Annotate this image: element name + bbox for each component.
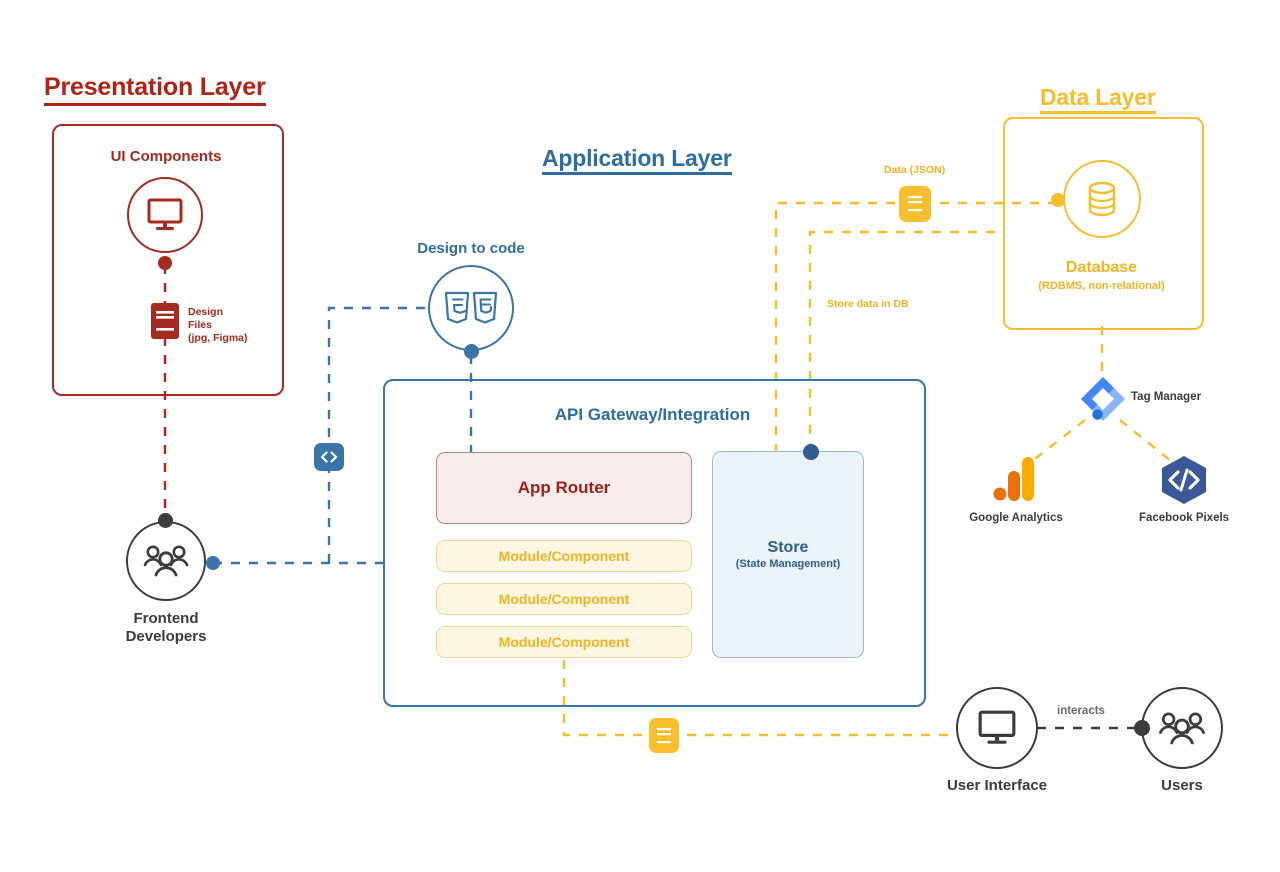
- users-node[interactable]: [1141, 687, 1223, 769]
- store-box[interactable]: Store (State Management): [712, 451, 864, 658]
- json-badge-bottom[interactable]: [649, 718, 679, 753]
- app-router-label: App Router: [518, 478, 611, 498]
- api-gateway-caption: API Gateway/Integration: [383, 405, 922, 425]
- module-component-label-1: Module/Component: [499, 548, 630, 564]
- ui-components-caption: UI Components: [52, 148, 280, 165]
- app-router-box[interactable]: App Router: [436, 452, 692, 524]
- design-files-line-2: Files: [188, 319, 248, 332]
- module-component-label-3: Module/Component: [499, 634, 630, 650]
- design-to-code-anchor-dot: [464, 344, 479, 359]
- code-brackets-icon: [320, 451, 338, 463]
- interacts-label: interacts: [1057, 705, 1105, 717]
- ui-components-node[interactable]: [127, 177, 203, 253]
- design-to-code-node[interactable]: [428, 265, 514, 351]
- ui-components-anchor-dot: [158, 256, 172, 270]
- google-analytics-node[interactable]: [992, 455, 1040, 508]
- frontend-developers-label: Frontend Developers: [86, 610, 246, 645]
- module-component-label-2: Module/Component: [499, 591, 630, 607]
- code-badge[interactable]: [314, 443, 344, 471]
- database-title: Database: [1003, 259, 1200, 278]
- database-subtitle: (RDBMS, non-relational): [1003, 280, 1200, 293]
- data-layer-title: Data Layer: [1040, 85, 1156, 114]
- css3-html5-shields-icon: [444, 291, 498, 325]
- database-anchor-dot: [1051, 193, 1065, 207]
- module-component-box-3[interactable]: Module/Component: [436, 626, 692, 658]
- tag-manager-node[interactable]: [1079, 375, 1127, 428]
- monitor-icon: [977, 710, 1017, 746]
- user-interface-label: User Interface: [917, 777, 1077, 795]
- frontend-developers-node[interactable]: [126, 521, 206, 601]
- design-files-node[interactable]: [151, 303, 179, 344]
- database-node[interactable]: [1063, 160, 1141, 238]
- frontend-developers-right-dot: [206, 556, 220, 570]
- json-document-icon: [905, 192, 925, 216]
- people-group-icon: [143, 544, 189, 578]
- module-component-box-2[interactable]: Module/Component: [436, 583, 692, 615]
- store-anchor-dot: [803, 444, 819, 460]
- monitor-icon: [146, 198, 184, 232]
- json-badge-data[interactable]: [899, 186, 931, 222]
- module-component-box-1[interactable]: Module/Component: [436, 540, 692, 572]
- design-files-line-1: Design: [188, 306, 248, 319]
- json-document-icon: [654, 724, 674, 748]
- frontend-developers-label-line-1: Frontend: [86, 610, 246, 628]
- design-files-line-3: (jpg, Figma): [188, 332, 248, 345]
- presentation-layer-title: Presentation Layer: [44, 74, 266, 106]
- facebook-pixels-node[interactable]: [1158, 455, 1210, 510]
- users-label: Users: [1102, 777, 1262, 795]
- user-interface-node[interactable]: [956, 687, 1038, 769]
- code-hexagon-icon: [1158, 455, 1210, 505]
- tag-manager-label: Tag Manager: [1131, 391, 1201, 403]
- store-subtitle: (State Management): [736, 558, 841, 570]
- google-tag-manager-icon: [1079, 375, 1127, 423]
- store-title: Store: [768, 539, 809, 557]
- frontend-developers-label-line-2: Developers: [86, 628, 246, 646]
- store-data-in-db-label: Store data in DB: [827, 298, 909, 310]
- google-analytics-bars-icon: [992, 455, 1040, 503]
- document-stack-icon: [151, 303, 179, 339]
- database-cylinder-icon: [1086, 181, 1118, 217]
- data-json-label: Data (JSON): [884, 164, 945, 176]
- frontend-developers-top-dot: [158, 513, 173, 528]
- design-files-label: Design Files (jpg, Figma): [188, 306, 248, 345]
- people-group-icon: [1158, 711, 1206, 746]
- google-analytics-label: Google Analytics: [950, 512, 1082, 524]
- application-layer-title: Application Layer: [542, 146, 732, 175]
- users-anchor-dot: [1134, 720, 1150, 736]
- facebook-pixels-label: Facebook Pixels: [1118, 512, 1250, 524]
- design-to-code-label: Design to code: [396, 240, 546, 258]
- architecture-diagram: Presentation Layer UI Components Design …: [0, 0, 1280, 872]
